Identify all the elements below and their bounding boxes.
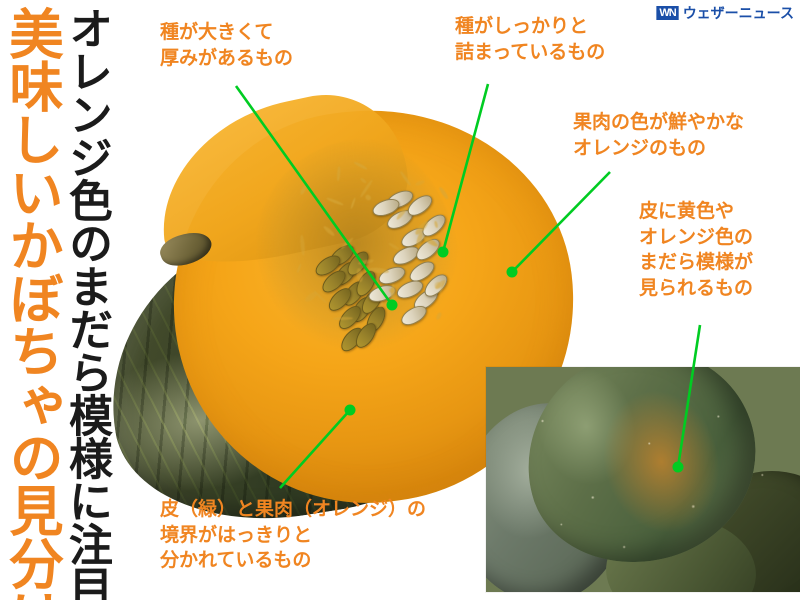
callout-label-boundary: 皮（緑）と果肉（オレンジ）の 境界がはっきりと 分かれているもの [160, 497, 426, 574]
inset-pumpkin-skin-photo [486, 367, 800, 592]
wn-mark-icon: WN [656, 6, 678, 20]
callout-label-seed-big: 種が大きくて 厚みがあるもの [160, 20, 293, 71]
page-subtitle: オレンジ色のまだら模様に注目!? [64, 6, 108, 592]
callout-label-flesh-color: 果肉の色が鮮やかな オレンジのもの [573, 110, 744, 161]
callout-label-skin-mottle: 皮に黄色や オレンジ色の まだら模様が 見られるもの [639, 199, 753, 302]
infographic-canvas: 美味しいかぼちゃの見分け方 オレンジ色のまだら模様に注目!? 種が大きくて 厚み… [0, 0, 800, 600]
weathernews-logo-text: ウェザーニュース [683, 3, 794, 23]
weathernews-logo[interactable]: WN ウェザーニュース [656, 3, 794, 23]
skin-speckle-texture [486, 367, 800, 592]
callout-label-seed-dense: 種がしっかりと 詰まっているもの [455, 14, 605, 65]
page-title: 美味しいかぼちゃの見分け方 [4, 6, 58, 592]
